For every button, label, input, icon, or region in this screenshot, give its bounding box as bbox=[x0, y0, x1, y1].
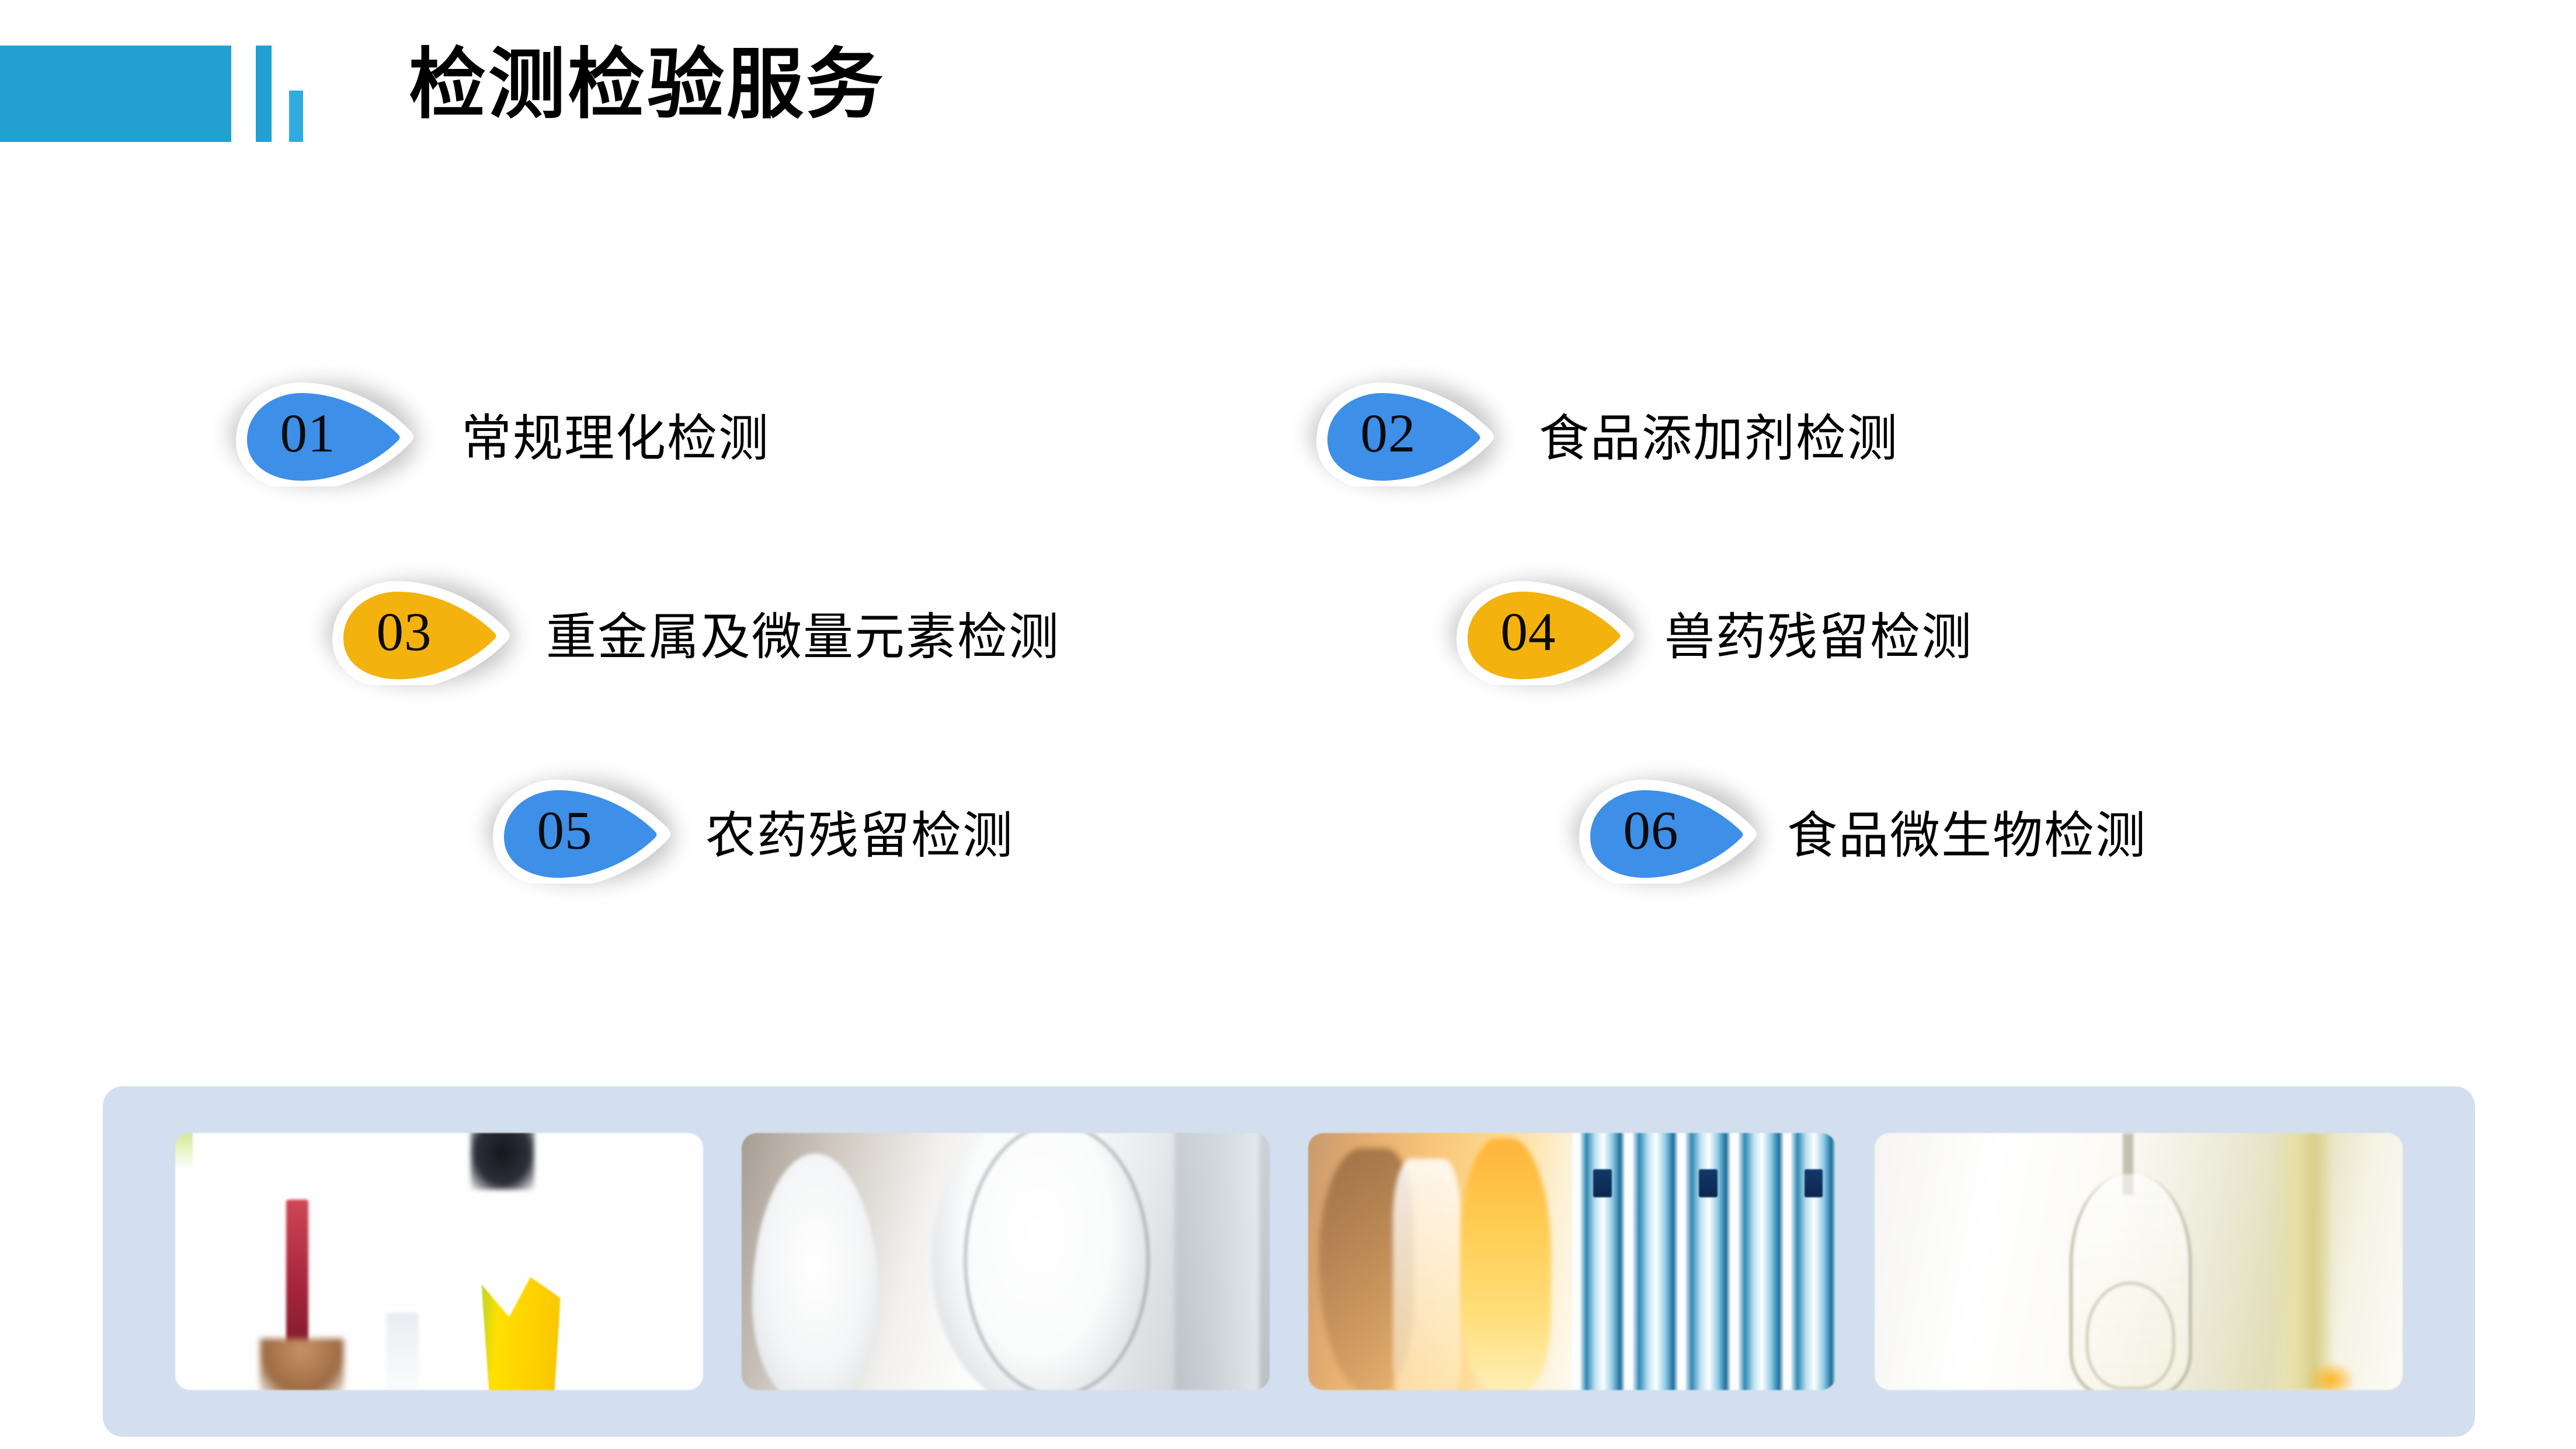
woman-drinking-photo-half bbox=[1308, 1133, 1572, 1390]
bottle-cap-shape bbox=[1699, 1169, 1718, 1197]
header-accent-bar-tall bbox=[256, 46, 272, 142]
service-list: 01 常规理化检测 02 食品添加剂检测 03 重金属及微量元素检测 04 兽药… bbox=[0, 374, 2576, 999]
service-item-label: 重金属及微量元素检测 bbox=[546, 596, 1060, 669]
service-item-label: 食品微生物检测 bbox=[1787, 794, 2147, 867]
service-item-label: 食品添加剂检测 bbox=[1539, 397, 1899, 470]
bottle-cap-shape bbox=[1593, 1169, 1612, 1197]
gallery-thumbnail-dairy-bottle[interactable] bbox=[1875, 1133, 2403, 1390]
water-bottle-shape bbox=[1739, 1133, 1784, 1390]
badge-number-label: 02 bbox=[1333, 374, 1444, 494]
number-badge-01[interactable]: 01 bbox=[222, 374, 426, 494]
yellow-band-shape bbox=[2271, 1133, 2334, 1390]
header-accent-block bbox=[0, 46, 231, 142]
glass-shape bbox=[387, 1313, 418, 1390]
header-accent-bar-short bbox=[289, 91, 303, 142]
service-item-04[interactable]: 04 兽药残留检测 bbox=[1442, 572, 1973, 692]
water-bottle-shape bbox=[1633, 1133, 1678, 1390]
service-item-01[interactable]: 01 常规理化检测 bbox=[222, 374, 770, 494]
badge-number-label: 03 bbox=[349, 572, 460, 692]
red-tube-shape bbox=[286, 1200, 308, 1359]
photo-background bbox=[175, 1133, 703, 1390]
service-item-06[interactable]: 06 食品微生物检测 bbox=[1565, 771, 2147, 891]
service-item-label: 兽药残留检测 bbox=[1664, 596, 1973, 669]
gallery-thumbnail-drinking-water[interactable] bbox=[1308, 1133, 1836, 1390]
service-item-05[interactable]: 05 农药残留检测 bbox=[479, 771, 1014, 891]
bottle-cap-shape bbox=[1805, 1169, 1823, 1197]
number-badge-03[interactable]: 03 bbox=[318, 572, 523, 692]
number-badge-05[interactable]: 05 bbox=[479, 771, 683, 891]
gallery-thumbnail-white-dishware[interactable] bbox=[742, 1133, 1270, 1390]
badge-number-label: 06 bbox=[1595, 771, 1706, 891]
service-item-03[interactable]: 03 重金属及微量元素检测 bbox=[318, 572, 1060, 692]
badge-number-label: 05 bbox=[509, 771, 620, 891]
page-title: 检测检验服务 bbox=[409, 33, 885, 137]
service-item-02[interactable]: 02 食品添加剂检测 bbox=[1302, 374, 1899, 494]
water-bottles-photo-half bbox=[1572, 1133, 1836, 1390]
badge-number-label: 04 bbox=[1473, 572, 1584, 692]
hand-shape bbox=[260, 1339, 345, 1390]
number-badge-02[interactable]: 02 bbox=[1302, 374, 1507, 494]
plate-edge-shape bbox=[1174, 1133, 1259, 1390]
number-badge-04[interactable]: 04 bbox=[1442, 572, 1647, 692]
page-header: 检测检验服务 bbox=[0, 0, 2576, 169]
dark-probe-shape bbox=[471, 1133, 534, 1190]
hair-shape bbox=[1461, 1138, 1551, 1390]
plate-rim-shape bbox=[964, 1133, 1150, 1390]
photo-gallery-strip bbox=[103, 1086, 2475, 1437]
service-item-label: 农药残留检测 bbox=[705, 794, 1014, 867]
highlight-spark bbox=[2307, 1362, 2355, 1390]
vessel-inner-shape bbox=[2086, 1282, 2175, 1389]
number-badge-06[interactable]: 06 bbox=[1565, 771, 1770, 891]
badge-number-label: 01 bbox=[252, 374, 363, 494]
gallery-thumbnail-lab-test-tube[interactable] bbox=[175, 1133, 703, 1390]
service-item-label: 常规理化检测 bbox=[461, 397, 770, 470]
bottle-shape bbox=[1393, 1159, 1462, 1390]
